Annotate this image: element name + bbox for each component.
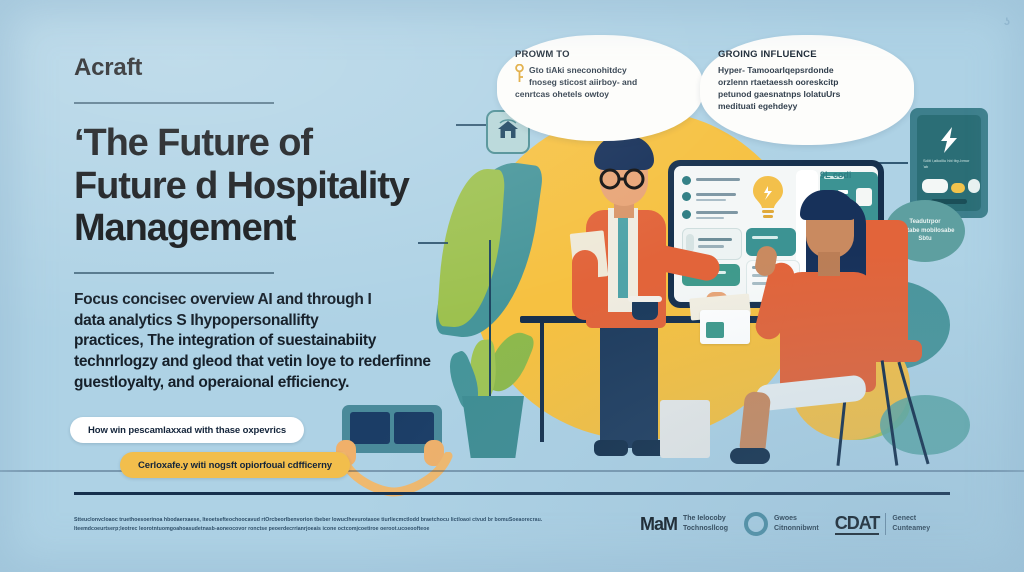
speech-bubble-left: PROWM TO Gto tiAki sneconohitdcy fnoseg … (497, 35, 703, 141)
body-line-3: practices, The integration of suestainab… (74, 331, 446, 352)
logo-cdat: CDAT Genect Cunteamey (835, 513, 930, 535)
bubble-right-line-4: medituati egehdeyy (718, 100, 896, 112)
desk-box (660, 400, 710, 458)
presenter-legs (600, 310, 658, 448)
presenter-hair (594, 136, 654, 170)
bubble-left-line-1: Gto tiAki sneconohitdcy (515, 64, 685, 76)
body-line-5: guestloyalty, and operaional efficiency. (74, 373, 446, 394)
logo-cdat-label-line-2: Cunteamey (892, 524, 930, 534)
headline-line-3: Management (74, 207, 446, 250)
guest-neck (818, 252, 840, 276)
poster-canvas: Sdiit i,aikoiliu hbi tby-bmor 'ab Teadut… (0, 0, 1024, 572)
guest-shoe (730, 448, 770, 464)
footer-disclaimer-line-2: lteemdcoeurtserp;leotrec leorotntuomgoah… (74, 525, 554, 534)
handheld-tablet-screen-right (394, 412, 434, 444)
footer-disclaimer: Stteuclonvcloaoc truethoesoerinoa hbodae… (74, 516, 554, 533)
divider-top (74, 102, 274, 104)
key-icon (515, 64, 524, 84)
logo-mam: MaM The Ielocoby Tochnosllcog (640, 514, 728, 534)
screen-list-text-2b (696, 199, 726, 201)
logo-mam-label: The Ielocoby Tochnosllcog (683, 514, 728, 534)
footer-disclaimer-line-1: Stteuclonvcloaoc truethoesoerinoa hbodae… (74, 516, 554, 525)
screen-list-text-1 (696, 178, 740, 181)
logo-mam-label-line-1: The Ielocoby (683, 514, 728, 524)
presenter-coffee-lid (628, 296, 662, 302)
corner-mark: ʖ (1004, 16, 1010, 28)
bubble-right-line-2: orzlenn rtaetaessh ooreskcitp (718, 76, 896, 88)
text-column: Acraft ‘The Future of Future d Hospitali… (74, 56, 446, 394)
brand-name: Acraft (74, 56, 446, 80)
lightning-chart-icon (932, 125, 966, 155)
headline-line-1: ‘The Future of (74, 122, 446, 165)
logo-ring-label-line-2: Citnonnibwnt (774, 524, 819, 534)
screen-card-quote-line1 (698, 238, 732, 241)
handheld-tablet-screen-left (350, 412, 390, 444)
screen-panel-right-badge (856, 188, 872, 206)
logo-cdat-mark: CDAT (835, 514, 880, 535)
bubble-left-line-2: fnoseg sticost aiirboy- and (515, 76, 685, 88)
body-line-1: Focus concisec overview AI and through I (74, 290, 446, 311)
bubble-left-line-3: cenrtcas ohetels owtoy (515, 88, 685, 100)
presenter-arm-left (572, 250, 598, 320)
screen-list-item-3 (682, 210, 691, 219)
body-copy: Focus concisec overview AI and through I… (74, 290, 446, 395)
logo-cdat-label-line-1: Genect (892, 514, 930, 524)
screen-list-text-3 (696, 211, 738, 214)
footer-divider (74, 492, 950, 495)
plant-pot (462, 396, 524, 458)
bubble-right-line-1: Hyper- Tamooarlqepsrdonde (718, 64, 896, 76)
screen-card-teal-mid-text (752, 236, 778, 239)
plant-stem (489, 240, 491, 415)
ring-icon (744, 512, 768, 536)
pill-operational-efficiency[interactable]: Cerloxafe.y witi nogsft opiorfoual cdffi… (120, 452, 350, 478)
screen-list-text-3b (696, 217, 724, 219)
monitor-headline: 9L codi (820, 170, 851, 180)
body-line-4: technrlogzy and gleod that vetin loye to… (74, 352, 446, 373)
screen-list-item-2 (682, 192, 691, 201)
wall-tablet-label: Sdiit i,aikoiliu hbi tby-bmor 'ab (917, 155, 981, 173)
screen-card-quote-line2 (698, 245, 724, 248)
desk-notecard-accent (706, 322, 724, 338)
desk-leg-left (540, 322, 544, 442)
body-line-2: data analytics S Ihypopersonallifty (74, 311, 446, 332)
logo-mam-mark: MaM (640, 515, 677, 533)
logo-mam-label-line-2: Tochnosllcog (683, 524, 728, 534)
speech-bubble-right: GROING INFLUENCE Hyper- Tamooarlqepsrdon… (700, 35, 914, 145)
bubble-right-line-3: petunod gaesnatnps lolatuUrs (718, 88, 896, 100)
connector-home-to-bubble (456, 124, 486, 126)
presenter-coffee-cup (632, 300, 658, 320)
logo-ring: Gwoes Citnonnibwnt (744, 512, 819, 536)
screen-list-item-1 (682, 176, 691, 185)
presenter-tie (618, 212, 628, 298)
presenter-glasses-icon (596, 168, 652, 190)
footer-logos: MaM The Ielocoby Tochnosllcog Gwoes Citn… (640, 512, 930, 536)
round-callout-line3: Sbtu (918, 235, 931, 243)
wall-tablet-screen: Sdiit i,aikoiliu hbi tby-bmor 'ab (917, 115, 981, 211)
page-title: ‘The Future of Future d Hospitality Mana… (74, 122, 446, 250)
wall-tablet-bar-a (922, 179, 948, 193)
wall-tablet-bar-b (951, 183, 965, 193)
logo-cdat-label: Genect Cunteamey (892, 514, 930, 534)
wall-tablet-bar-c (968, 179, 980, 193)
bubble-right-title: GROING INFLUENCE (718, 49, 896, 60)
pill-personalization[interactable]: How win pescamlaxxad with thase oxpevric… (70, 417, 304, 443)
logo-ring-label-line-1: Gwoes (774, 514, 819, 524)
screen-list-text-2 (696, 193, 736, 196)
bubble-left-title: PROWM TO (515, 49, 685, 60)
logo-ring-label: Gwoes Citnonnibwnt (774, 514, 819, 534)
lightbulb-icon (748, 174, 788, 224)
headline-line-2: Future d Hospitality (74, 165, 446, 208)
round-callout-line1: Teadutrpor (909, 218, 940, 226)
divider-bottom (74, 272, 274, 274)
guest-torso (780, 272, 876, 392)
logo-separator (885, 513, 886, 535)
presenter-shoe-left (594, 440, 628, 456)
